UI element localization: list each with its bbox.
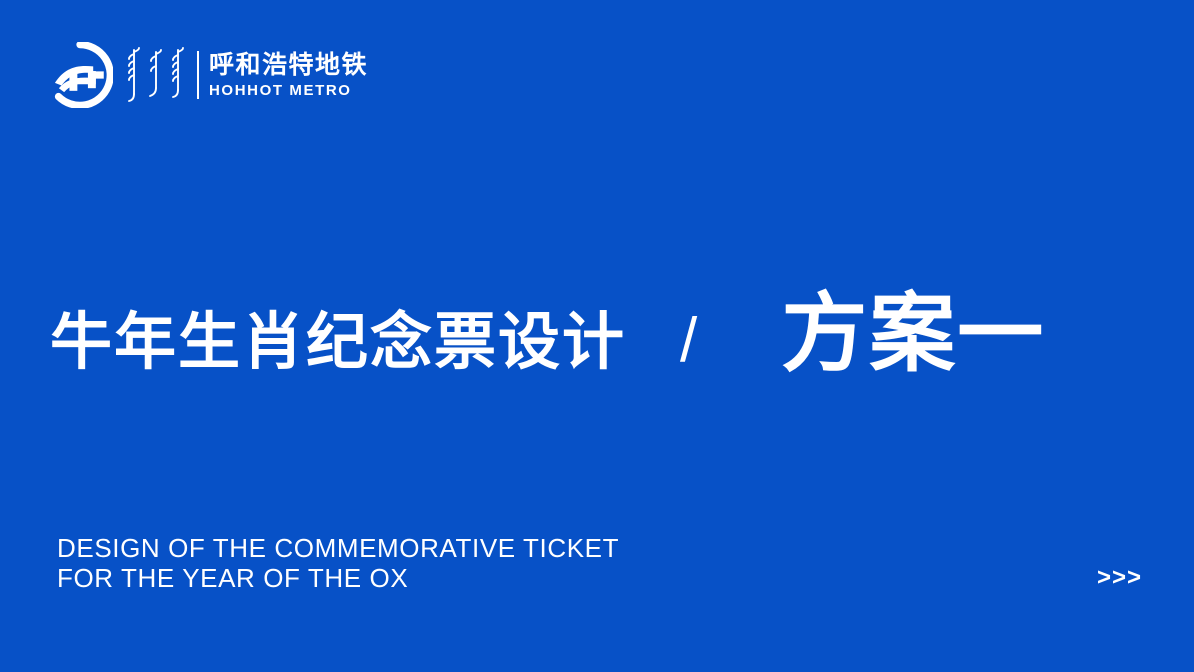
page-title: 牛年生肖纪念票设计 / 方案一 bbox=[50, 288, 1154, 380]
subtitle-line-1: DESIGN OF THE COMMEMORATIVE TICKET bbox=[57, 533, 619, 563]
title-accent-text: 方案一 bbox=[781, 288, 1045, 380]
title-main-text: 牛年生肖纪念票设计 bbox=[50, 307, 626, 379]
logo-name-block: 呼和浩特地铁 HOHHOT METRO bbox=[209, 51, 368, 100]
subtitle-line-2: FOR THE YEAR OF THE OX bbox=[57, 563, 619, 593]
logo-divider bbox=[197, 51, 199, 99]
title-separator-slash: / bbox=[680, 305, 697, 377]
chevron-right-icon-2: > bbox=[1112, 566, 1127, 590]
hohhot-metro-logo-mark bbox=[47, 42, 113, 108]
chevron-right-icon-3: > bbox=[1127, 566, 1142, 590]
page-subtitle: DESIGN OF THE COMMEMORATIVE TICKET FOR T… bbox=[57, 533, 619, 593]
forward-chevrons: > > > bbox=[1097, 566, 1142, 590]
mongolian-vertical-script bbox=[123, 44, 189, 106]
brand-logo-lockup: 呼和浩特地铁 HOHHOT METRO bbox=[47, 40, 368, 110]
chevron-right-icon-1: > bbox=[1097, 566, 1112, 590]
logo-name-english: HOHHOT METRO bbox=[209, 81, 368, 100]
logo-name-chinese: 呼和浩特地铁 bbox=[209, 51, 368, 79]
cover-slide: 呼和浩特地铁 HOHHOT METRO 牛年生肖纪念票设计 / 方案一 DESI… bbox=[0, 0, 1194, 672]
